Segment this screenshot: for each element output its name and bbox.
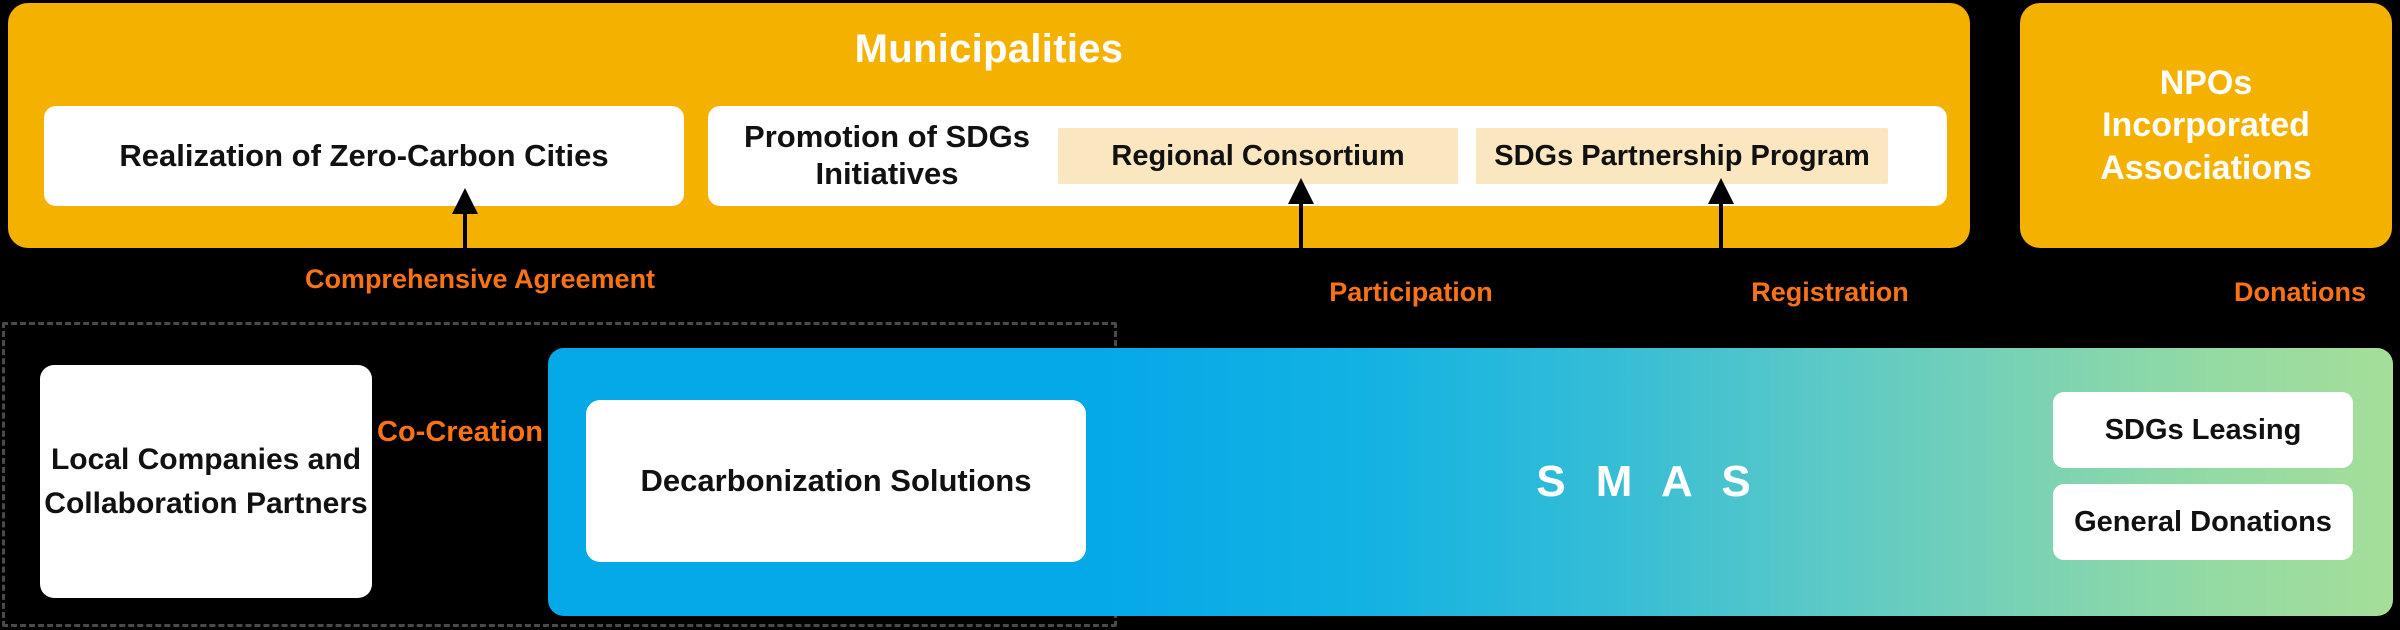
smas-gradient-bar: Decarbonization Solutions S M A S SDGs L… bbox=[548, 348, 2393, 616]
card-decarbonization-solutions[interactable]: Decarbonization Solutions bbox=[586, 400, 1086, 562]
arrow-shaft bbox=[1299, 192, 1303, 268]
label-co-creation: Co-Creation bbox=[370, 416, 550, 449]
arrow-shaft bbox=[1719, 192, 1723, 268]
arrow-registration bbox=[1708, 178, 1734, 268]
smas-label: S M A S bbox=[1108, 348, 2188, 616]
connector-label-registration: Registration bbox=[1751, 277, 1909, 308]
npos-line-2: Incorporated bbox=[2100, 104, 2312, 146]
connector-label-comprehensive-agreement: Comprehensive Agreement bbox=[305, 264, 655, 295]
municipalities-panel: Municipalities Realization of Zero-Carbo… bbox=[8, 3, 1970, 248]
arrow-participation bbox=[1288, 178, 1314, 268]
connector-label-participation: Participation bbox=[1329, 277, 1493, 308]
connector-label-donations: Donations bbox=[2234, 277, 2366, 308]
chip-general-donations[interactable]: General Donations bbox=[2053, 484, 2353, 560]
npos-panel-text: NPOs Incorporated Associations bbox=[2100, 62, 2312, 188]
chip-sdgs-partnership-program[interactable]: SDGs Partnership Program bbox=[1476, 128, 1888, 184]
card-local-companies-partners[interactable]: Local Companies and Collaboration Partne… bbox=[40, 365, 372, 598]
npos-line-3: Associations bbox=[2100, 147, 2312, 189]
sdgs-initiatives-label: Promotion of SDGs Initiatives bbox=[722, 119, 1052, 192]
diagram-canvas: Municipalities Realization of Zero-Carbo… bbox=[0, 0, 2400, 630]
npos-panel: NPOs Incorporated Associations bbox=[2020, 3, 2392, 248]
municipalities-panel-title: Municipalities bbox=[8, 27, 1970, 72]
arrow-shaft bbox=[463, 202, 467, 264]
chip-regional-consortium[interactable]: Regional Consortium bbox=[1058, 128, 1458, 184]
npos-line-1: NPOs bbox=[2100, 62, 2312, 104]
chip-sdgs-leasing[interactable]: SDGs Leasing bbox=[2053, 392, 2353, 468]
arrow-comprehensive-agreement bbox=[452, 188, 478, 264]
card-sdgs-initiatives[interactable]: Promotion of SDGs Initiatives Regional C… bbox=[708, 106, 1947, 206]
card-zero-carbon-cities[interactable]: Realization of Zero-Carbon Cities bbox=[44, 106, 684, 206]
smas-right-chip-group: SDGs Leasing General Donations bbox=[2053, 392, 2353, 560]
